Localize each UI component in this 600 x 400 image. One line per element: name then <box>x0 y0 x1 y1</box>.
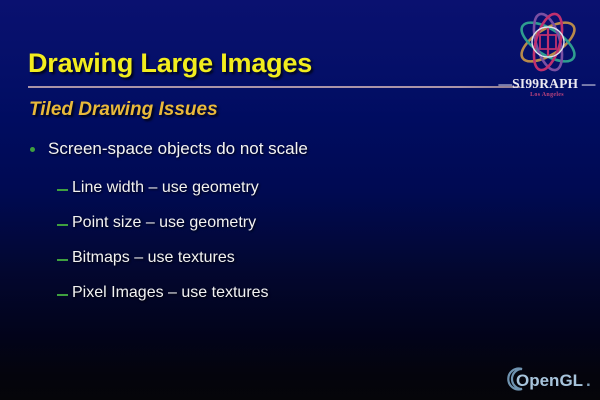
list-item-label: Line width – use geometry <box>72 179 259 196</box>
bullet-list: Screen-space objects do not scale Line w… <box>0 139 600 319</box>
slide-canvas: Drawing Large Images Tiled Drawing Issue… <box>0 0 600 400</box>
list-item-label: Screen-space objects do not scale <box>48 139 308 158</box>
list-item: Pixel Images – use textures <box>0 284 600 319</box>
list-item: Point size – use geometry <box>0 214 600 249</box>
siggraph-rings-icon <box>506 8 590 76</box>
siggraph-logo: —SI99RAPH — Los Angeles <box>498 8 596 104</box>
opengl-logo-icon: OpenGL . <box>506 366 594 392</box>
svg-text:.: . <box>586 371 591 390</box>
title-divider <box>28 86 520 88</box>
list-item-label: Pixel Images – use textures <box>72 284 269 301</box>
bullet-dash-icon <box>57 259 68 261</box>
opengl-logo: OpenGL . <box>506 366 594 392</box>
siggraph-city-label: Los Angeles <box>498 92 596 98</box>
bullet-dot-icon <box>30 147 35 152</box>
siggraph-wordmark: —SI99RAPH — <box>498 76 596 92</box>
bullet-dash-icon <box>57 189 68 191</box>
svg-text:OpenGL: OpenGL <box>516 371 583 390</box>
slide-subtitle: Tiled Drawing Issues <box>29 99 218 121</box>
list-item: Bitmaps – use textures <box>0 249 600 284</box>
list-item: Screen-space objects do not scale <box>0 139 600 170</box>
list-item: Line width – use geometry <box>0 179 600 214</box>
bullet-dash-icon <box>57 294 68 296</box>
page-title: Drawing Large Images <box>28 48 312 79</box>
bullet-dash-icon <box>57 224 68 226</box>
list-item-label: Bitmaps – use textures <box>72 249 235 266</box>
list-item-label: Point size – use geometry <box>72 214 256 231</box>
